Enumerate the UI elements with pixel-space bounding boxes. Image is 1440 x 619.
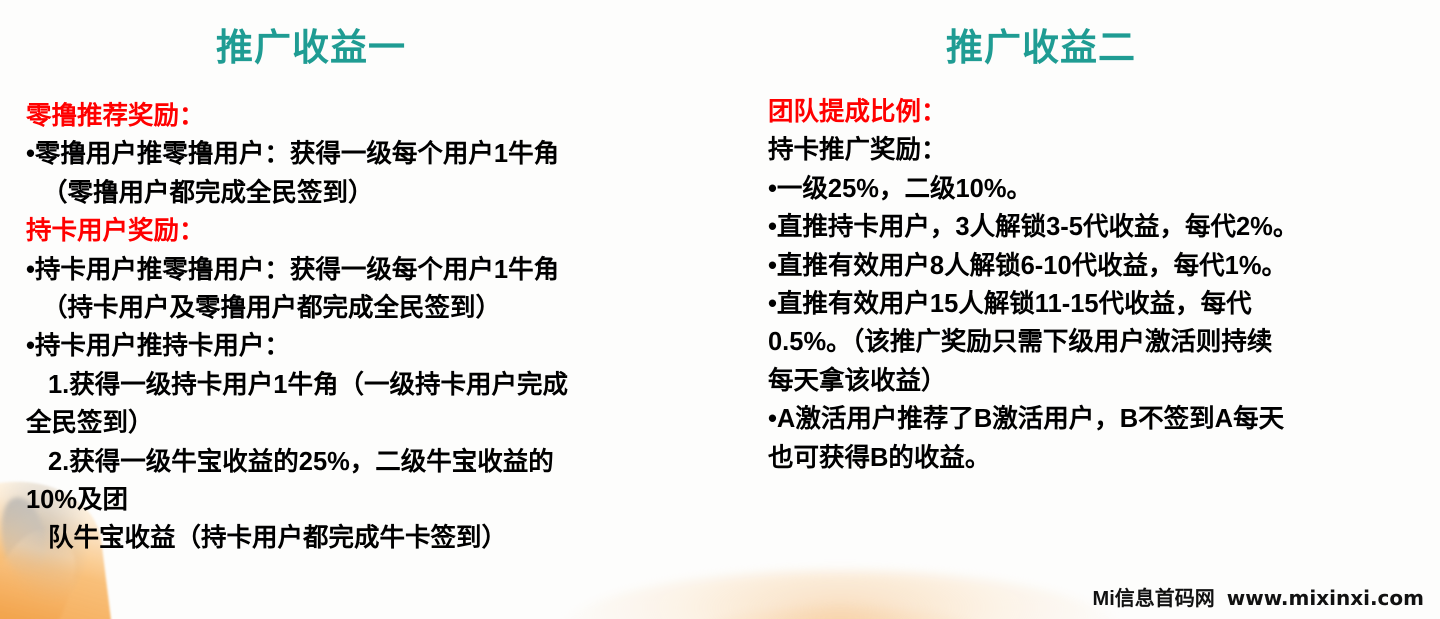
watermark-brand: Mi信息首码网 xyxy=(1093,582,1215,611)
decor-cream-glow-bottom xyxy=(560,571,1120,619)
left-column-line: 队牛宝收益（持卡用户都完成牛卡签到） xyxy=(26,519,718,557)
right-column-line: 0.5%。（该推广奖励只需下级用户激活则持续 xyxy=(768,323,1432,361)
right-column-title: 推广收益二 xyxy=(752,29,1440,66)
left-column-line: （零撸用户都完成全民签到） xyxy=(26,174,718,212)
right-column-line: •直推有效用户15人解锁11-15代收益，每代 xyxy=(768,285,1432,323)
left-column-line: （持卡用户及零撸用户都完成全民签到） xyxy=(26,289,718,327)
left-column-heading: 零撸推荐奖励： xyxy=(26,97,718,135)
right-column-line: 也可获得B的收益。 xyxy=(768,439,1432,477)
left-column-line: 2.获得一级牛宝收益的25%，二级牛宝收益的 xyxy=(26,443,718,481)
left-column-line: •零撸用户推零撸用户：获得一级每个用户1牛角 xyxy=(26,135,718,173)
left-column: 推广收益一 零撸推荐奖励：•零撸用户推零撸用户：获得一级每个用户1牛角（零撸用户… xyxy=(0,0,730,558)
decor-orange-glow-bottom xyxy=(690,605,990,619)
right-column-line: 持卡推广奖励： xyxy=(768,131,1432,169)
left-column-line: •持卡用户推持卡用户： xyxy=(26,327,718,365)
watermark: Mi信息首码网 www.mixinxi.com xyxy=(1093,582,1424,611)
right-column-line: •A激活用户推荐了B激活用户，B不签到A每天 xyxy=(768,400,1432,438)
left-column-body: 零撸推荐奖励：•零撸用户推零撸用户：获得一级每个用户1牛角（零撸用户都完成全民签… xyxy=(0,97,730,558)
slide-canvas: 推广收益一 零撸推荐奖励：•零撸用户推零撸用户：获得一级每个用户1牛角（零撸用户… xyxy=(0,0,1440,619)
right-column-body: 团队提成比例：持卡推广奖励：•一级25%，二级10%。•直推持卡用户，3人解锁3… xyxy=(752,93,1440,477)
right-column-line: •直推持卡用户，3人解锁3-5代收益，每代2%。 xyxy=(768,208,1432,246)
right-column-line: •一级25%，二级10%。 xyxy=(768,170,1432,208)
right-column: 推广收益二 团队提成比例：持卡推广奖励：•一级25%，二级10%。•直推持卡用户… xyxy=(752,0,1440,477)
left-column-line: •持卡用户推零撸用户：获得一级每个用户1牛角 xyxy=(26,251,718,289)
left-column-line: 1.获得一级持卡用户1牛角（一级持卡用户完成 xyxy=(26,366,718,404)
left-column-title: 推广收益一 xyxy=(0,29,730,66)
left-column-line: 全民签到） xyxy=(26,404,718,442)
right-column-heading: 团队提成比例： xyxy=(768,93,1432,131)
right-column-line: 每天拿该收益） xyxy=(768,362,1432,400)
watermark-url: www.mixinxi.com xyxy=(1227,586,1424,610)
left-column-line: 10%及团 xyxy=(26,481,718,519)
right-column-line: •直推有效用户8人解锁6-10代收益，每代1%。 xyxy=(768,247,1432,285)
left-column-heading: 持卡用户奖励： xyxy=(26,212,718,250)
